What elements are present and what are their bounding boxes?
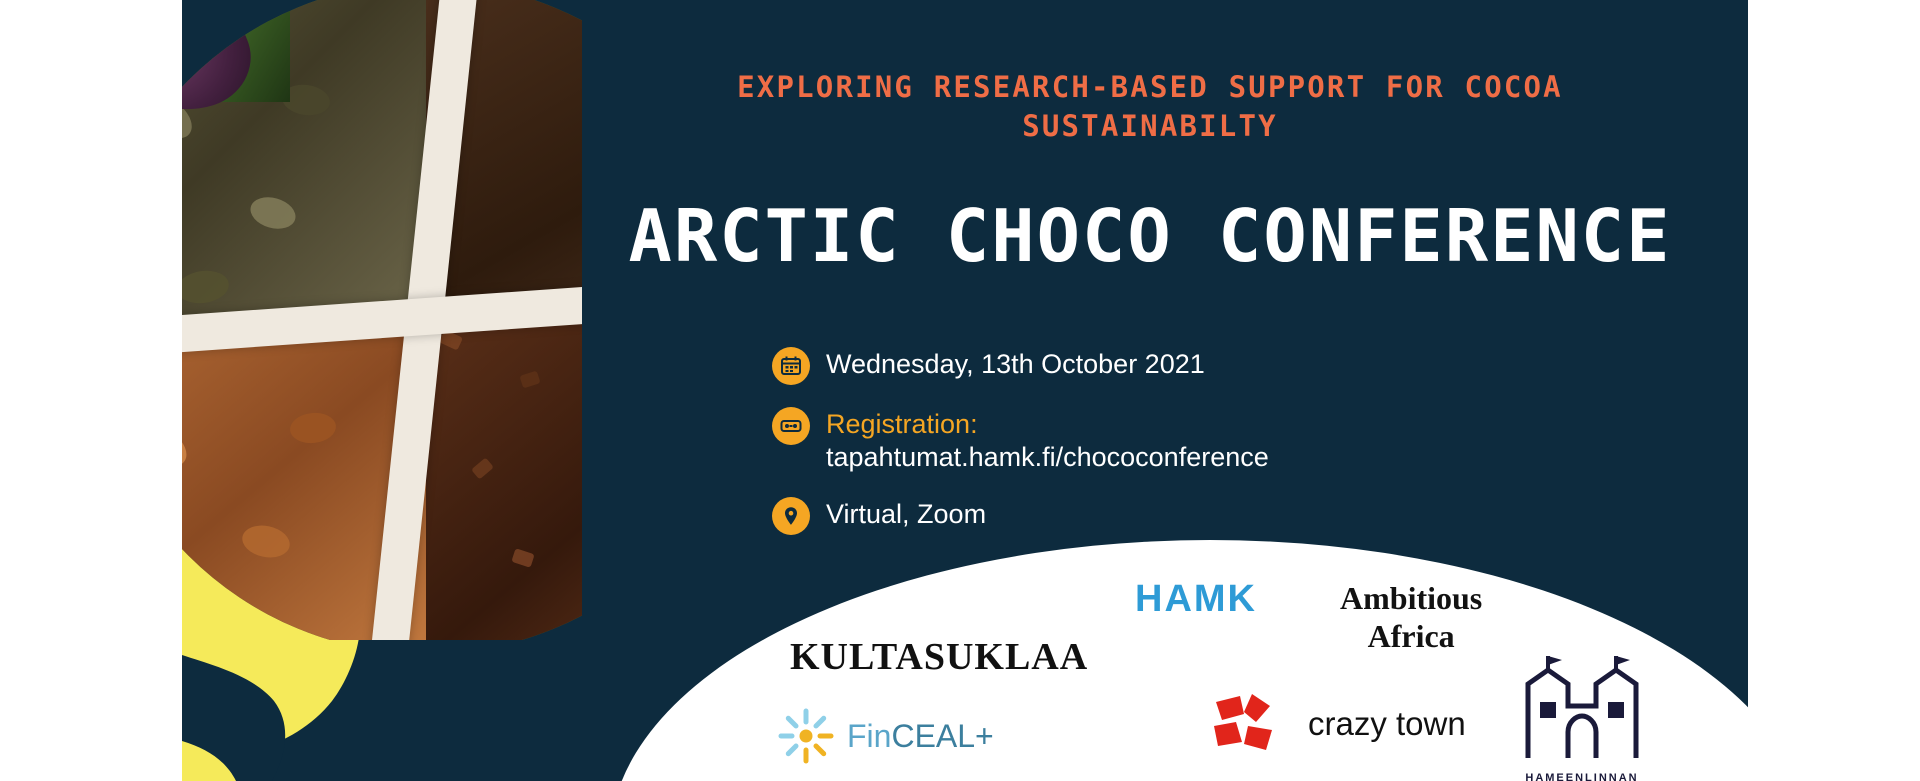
event-location: Virtual, Zoom: [826, 495, 986, 531]
logo-hamk: HAMK: [1135, 578, 1257, 621]
cocoa-photo-collage: [182, 0, 582, 640]
photo-quadrant-cocoa-nibs: [426, 318, 582, 640]
ambitious-africa-line2: Africa: [1340, 618, 1482, 656]
page-title: Arctic Choco Conference: [560, 200, 1740, 272]
registration-text: Registration: tapahtumat.hamk.fi/chococo…: [826, 405, 1269, 475]
ambitious-africa-line1: Ambitious: [1340, 580, 1482, 618]
crazy-town-mark-icon: [1210, 692, 1294, 756]
hameenlinna-caption: HAMEENLINNAN KAUPUNKI: [1518, 771, 1646, 781]
photo-circle: [182, 0, 582, 640]
ticket-icon: [772, 407, 810, 445]
detail-row-location: Virtual, Zoom: [772, 495, 1572, 535]
registration-label: Registration:: [826, 408, 1269, 441]
sponsor-logos: HAMK Ambitious Africa KULTASUKLAA: [610, 540, 1810, 781]
crazy-town-wordmark: crazy town: [1308, 705, 1466, 743]
logo-ambitious-africa: Ambitious Africa: [1340, 580, 1482, 656]
poster-kicker: Exploring Research-based Support for Coc…: [600, 68, 1700, 147]
detail-row-date: Wednesday, 13th October 2021: [772, 345, 1572, 385]
logo-finceal: FinCEAL+: [775, 705, 994, 767]
calendar-icon: [772, 347, 810, 385]
detail-row-registration: Registration: tapahtumat.hamk.fi/chococo…: [772, 405, 1572, 475]
finceal-prefix: Fin: [847, 718, 891, 754]
finceal-wordmark: FinCEAL+: [847, 718, 994, 755]
conference-poster: Exploring Research-based Support for Coc…: [0, 0, 1920, 781]
hameenlinna-line1: HAMEENLINNAN: [1518, 771, 1646, 781]
logo-kultasuklaa: KULTASUKLAA: [790, 635, 1088, 679]
logo-hameenlinna: HAMEENLINNAN KAUPUNKI: [1518, 650, 1646, 781]
event-details: Wednesday, 13th October 2021 Registratio…: [772, 345, 1572, 555]
event-date: Wednesday, 13th October 2021: [826, 345, 1205, 381]
finceal-sun-icon: [775, 705, 837, 767]
finceal-suffix: CEAL+: [891, 718, 993, 754]
castle-icon: [1518, 650, 1646, 762]
logo-crazy-town: crazy town: [1210, 692, 1466, 756]
location-pin-icon: [772, 497, 810, 535]
registration-url[interactable]: tapahtumat.hamk.fi/chococonference: [826, 441, 1269, 474]
